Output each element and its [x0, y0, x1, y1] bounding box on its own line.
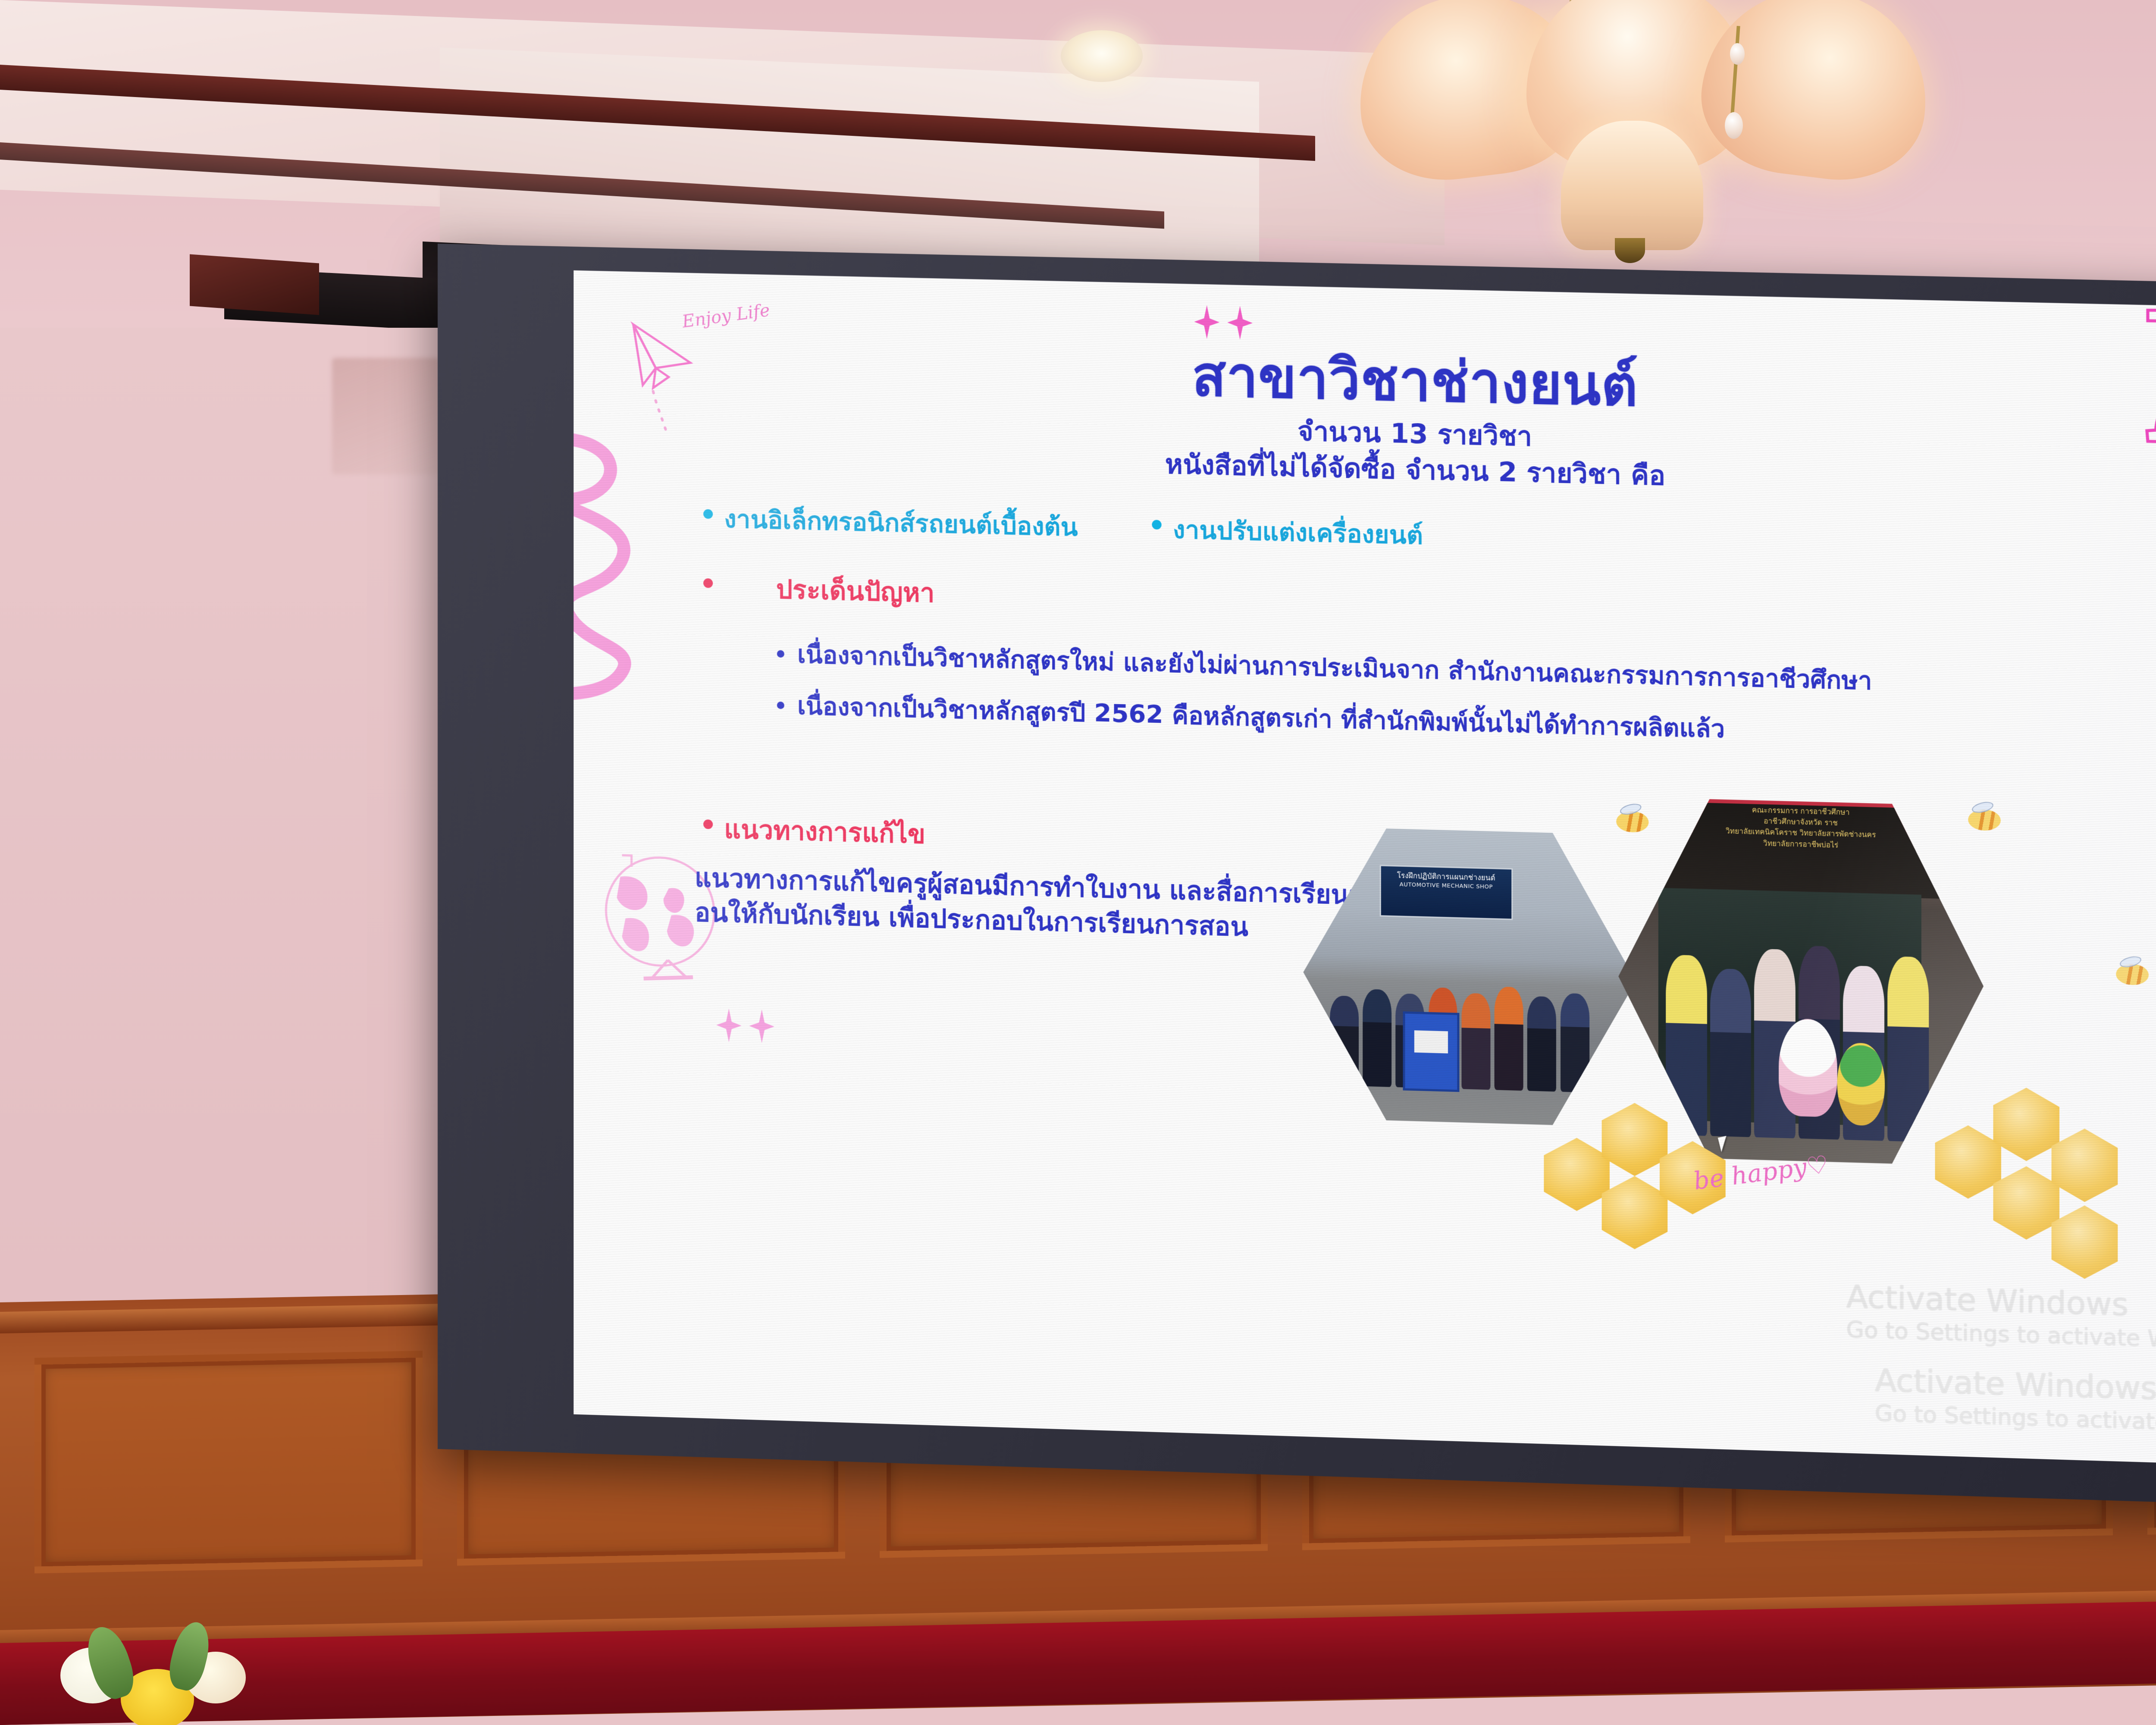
issue-points-list: เนื่องจากเป็นวิชาหลักสูตรใหม่ และยังไม่ผ… — [777, 638, 2156, 777]
course-item: งานอิเล็กทรอนิกส์รถยนต์เบื้องต้น — [703, 498, 1078, 547]
solution-heading: แนวทางการแก้ไข — [724, 809, 925, 855]
chandelier-crystal — [1725, 112, 1743, 139]
course-item: งานปรับแต่งเครื่องยนต์ — [1152, 508, 1423, 555]
heart-icon: ♡ — [1804, 1150, 1830, 1181]
wainscot-panel — [34, 1351, 423, 1573]
photo-mechanic-shop: โรงฝึกปฏิบัติการแผนกช่างยนต์ AUTOMOTIVE … — [1303, 820, 1636, 1133]
wall-stain — [332, 358, 440, 474]
honeycomb-cluster-left — [1544, 1101, 1807, 1291]
watermark-subtitle: Go to Settings to activate Windows. — [1846, 1316, 2156, 1356]
chandelier-shade-3 — [1693, 0, 1938, 190]
course-label: งานอิเล็กทรอนิกส์รถยนต์เบื้องต้น — [724, 499, 1078, 547]
equipment-cart — [1403, 1011, 1460, 1092]
bullet-dot-pink — [703, 819, 713, 829]
issue-point-text: เนื่องจากเป็นวิชาหลักสูตรใหม่ และยังไม่ผ… — [797, 639, 1872, 698]
chandelier — [1294, 0, 1966, 250]
presentation-display[interactable]: Enjoy Life — [438, 244, 2156, 1506]
photo-frame-mechanic-shop[interactable]: โรงฝึกปฏิบัติการแผนกช่างยนต์ AUTOMOTIVE … — [1303, 820, 1636, 1133]
issue-point-text: เนื่องจากเป็นวิชาหลักสูตรปี 2562 คือหลัก… — [797, 690, 1725, 746]
screenshot-root: Enjoy Life — [0, 0, 2156, 1725]
chandelier-crystal-2 — [1730, 43, 1745, 65]
issue-heading-row: ประเด็นปัญหา — [703, 567, 934, 614]
bullet-dot-cyan — [703, 509, 713, 519]
course-list: งานอิเล็กทรอนิกส์รถยนต์เบื้องต้น งานปรับ… — [703, 498, 1838, 565]
bullet-dot-blue — [777, 702, 784, 709]
sparkle-stars-bottom — [716, 1008, 774, 1044]
honeycomb-cluster-right — [1935, 1085, 2156, 1302]
bullet-dot-cyan — [1152, 520, 1161, 530]
ceiling-downlight — [1061, 30, 1143, 82]
left-wall-band — [0, 328, 448, 1389]
bullet-dot-blue — [777, 650, 784, 657]
course-label: งานปรับแต่งเครื่องยนต์ — [1173, 509, 1423, 555]
flower-bouquet — [1779, 1018, 1837, 1117]
shop-sign: โรงฝึกปฏิบัติการแผนกช่างยนต์ AUTOMOTIVE … — [1380, 865, 1513, 920]
issue-heading: ประเด็นปัญหา — [776, 569, 935, 614]
bullet-dot-pink — [703, 578, 713, 588]
cart-label — [1414, 1030, 1448, 1054]
entrance-banner: คณะกรรมการ การอาชีวศึกษา อาชีวศึกษาจังหว… — [1626, 801, 1976, 900]
ceiling-vent — [190, 254, 319, 315]
chandelier-shade-bottom — [1561, 121, 1703, 250]
flower-basket — [1837, 1042, 1885, 1126]
students-row — [1330, 964, 1589, 1093]
powerpoint-slide[interactable]: Enjoy Life — [573, 270, 2156, 1466]
solution-heading-row: แนวทางการแก้ไข — [703, 808, 925, 855]
flower-arrangement — [43, 1621, 319, 1725]
chandelier-finial — [1615, 238, 1645, 263]
